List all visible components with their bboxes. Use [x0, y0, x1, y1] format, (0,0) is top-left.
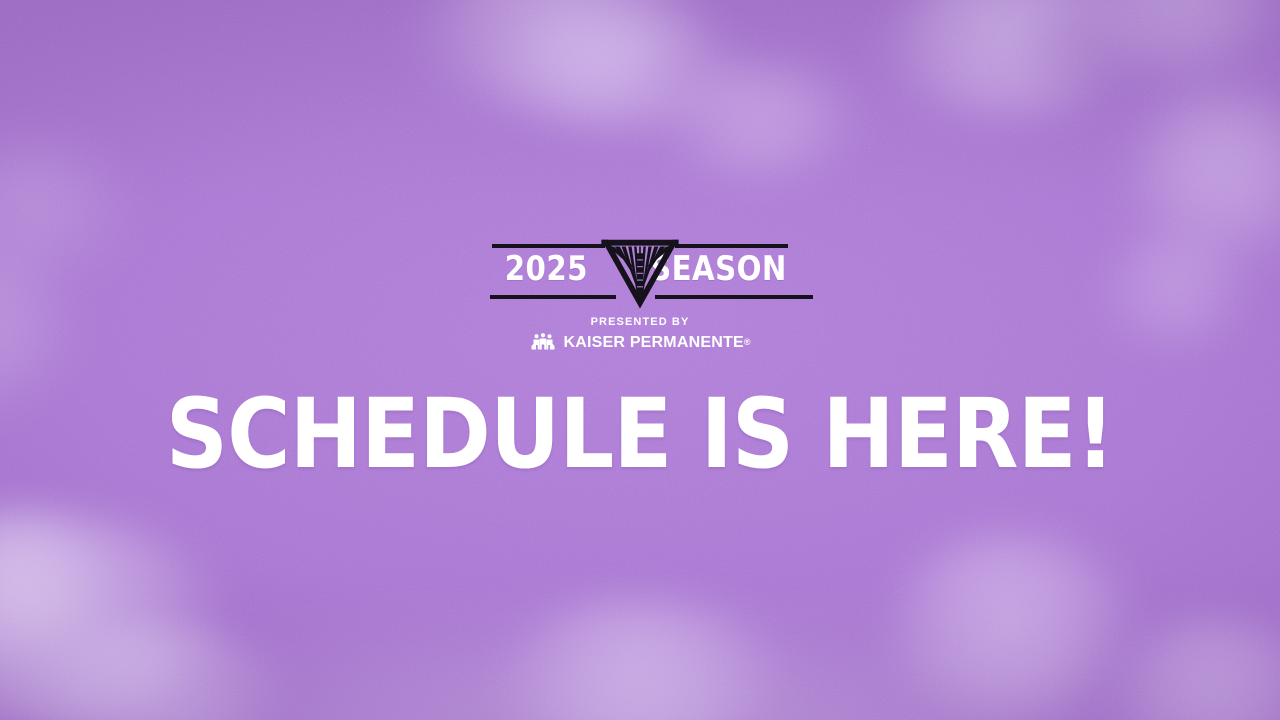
- sky-vignette: [0, 0, 1280, 720]
- season-year-label: 2025: [505, 246, 588, 292]
- headline-text: SCHEDULE IS HERE!: [64, 388, 1216, 480]
- sponsor-lockup: KAISER PERMANENTE®: [0, 333, 1280, 352]
- presented-by-label: PRESENTED BY: [0, 316, 1280, 328]
- thorns-chevron-crest-icon: [598, 228, 682, 312]
- season-lockup: 2025 SEASON: [0, 232, 1280, 352]
- promo-graphic: 2025 SEASON: [0, 0, 1280, 720]
- kaiser-permanente-people-icon: [530, 333, 556, 352]
- registered-mark: ®: [744, 337, 751, 347]
- sponsor-name: KAISER PERMANENTE®: [564, 334, 751, 352]
- sponsor-name-text: KAISER PERMANENTE: [564, 334, 744, 351]
- season-bar: 2025 SEASON: [470, 232, 810, 308]
